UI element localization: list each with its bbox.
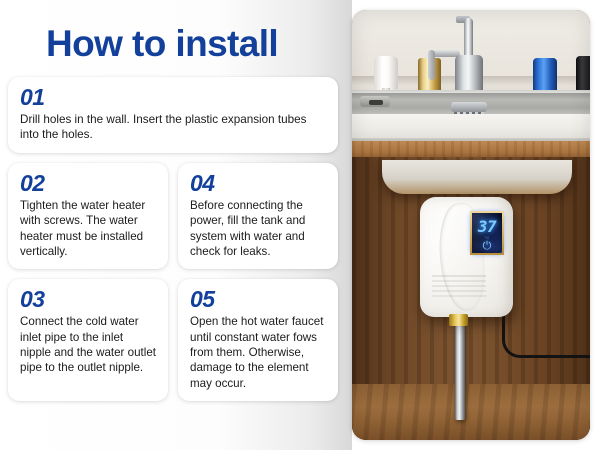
cabinet-floor xyxy=(352,384,590,440)
faucet-handle-post xyxy=(428,50,435,80)
sink-drain xyxy=(360,96,390,107)
steps-container: 01 Drill holes in the wall. Insert the p… xyxy=(8,77,344,411)
page-title: How to install xyxy=(8,0,342,62)
step-text: Connect the cold water inlet pipe to the… xyxy=(20,314,156,376)
sink-underside xyxy=(382,160,572,194)
step-text: Tighten the water heater with screws. Th… xyxy=(20,198,156,260)
outlet-pipe xyxy=(455,314,465,420)
white-canister xyxy=(374,56,398,90)
step-text: Drill holes in the wall. Insert the plas… xyxy=(20,112,326,143)
step-number: 03 xyxy=(20,287,156,312)
step-number: 05 xyxy=(190,287,326,312)
steps-row-1: 02 Tighten the water heater with screws.… xyxy=(8,163,344,269)
inlet-nipple xyxy=(452,187,469,199)
power-button-icon[interactable]: ⏻ xyxy=(472,241,502,252)
step-number: 02 xyxy=(20,171,156,196)
power-cord xyxy=(502,310,590,358)
step-number: 01 xyxy=(20,85,326,110)
warning-label xyxy=(432,275,486,301)
step-card-05: 05 Open the hot water faucet until const… xyxy=(178,279,338,401)
tankless-water-heater: 37 °C ⏻ xyxy=(420,197,513,317)
outlet-nipple xyxy=(449,314,468,326)
steps-row-2: 03 Connect the cold water inlet pipe to … xyxy=(8,279,344,401)
product-photo-panel: 37 °C ⏻ xyxy=(352,0,600,450)
infographic-page: How to install 01 Drill holes in the wal… xyxy=(0,0,600,450)
step-text: Open the hot water faucet until constant… xyxy=(190,314,326,391)
temperature-readout: 37 xyxy=(472,217,502,236)
step-card-02: 02 Tighten the water heater with screws.… xyxy=(8,163,168,269)
step-card-01: 01 Drill holes in the wall. Insert the p… xyxy=(8,77,338,153)
kitchen-scene-photo: 37 °C ⏻ xyxy=(352,10,590,440)
step-card-04: 04 Before connecting the power, fill the… xyxy=(178,163,338,269)
instructions-panel: How to install 01 Drill holes in the wal… xyxy=(0,0,352,450)
step-number: 04 xyxy=(190,171,326,196)
step-card-03: 03 Connect the cold water inlet pipe to … xyxy=(8,279,168,401)
led-display[interactable]: 37 °C ⏻ xyxy=(470,211,504,255)
faucet-base xyxy=(451,102,487,112)
step-text: Before connecting the power, fill the ta… xyxy=(190,198,326,260)
